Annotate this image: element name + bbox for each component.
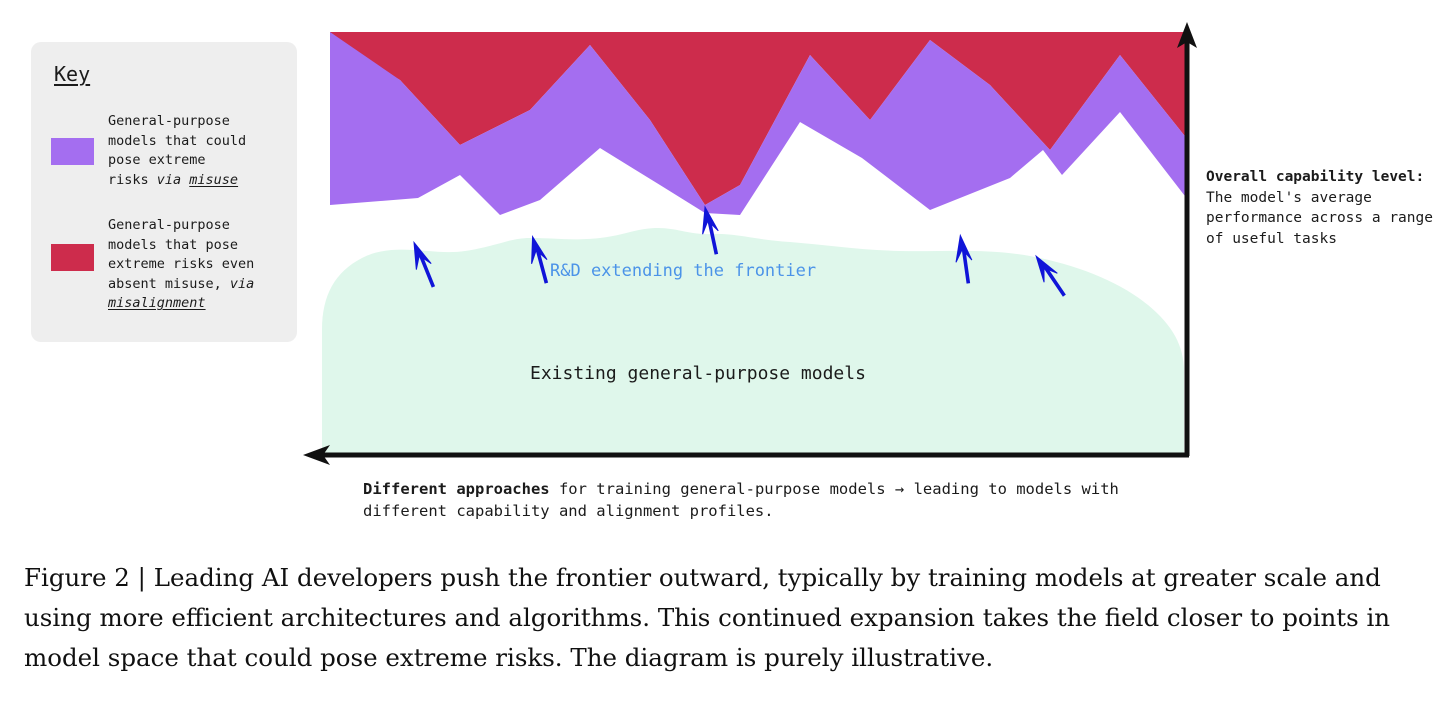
- legend-misalign-line2: models that pose: [108, 237, 238, 253]
- y-axis-annotation: Overall capability level: The model's av…: [1206, 167, 1434, 249]
- legend-label-misuse: General-purposemodels that couldpose ext…: [108, 112, 246, 190]
- legend-item-misalignment: General-purposemodels that poseextreme r…: [51, 216, 283, 314]
- key-title: Key: [54, 62, 283, 86]
- legend-item-misuse: General-purposemodels that couldpose ext…: [51, 112, 283, 190]
- key-legend-panel: Key General-purposemodels that couldpose…: [31, 42, 297, 342]
- x-axis-caption-bold: Different approaches: [363, 480, 550, 498]
- legend-misalign-line3: extreme risks even: [108, 256, 254, 272]
- legend-swatch-red: [51, 244, 94, 271]
- legend-label-misalignment: General-purposemodels that poseextreme r…: [108, 216, 254, 314]
- legend-misalign-via: via: [230, 276, 254, 292]
- legend-misalign-line1: General-purpose: [108, 217, 230, 233]
- legend-misuse-line2: models that could: [108, 133, 246, 149]
- legend-misuse-via: via: [157, 172, 190, 188]
- legend-misalign-term: misalignment: [108, 295, 206, 311]
- legend-misuse-line1: General-purpose: [108, 113, 230, 129]
- y-axis-annotation-title: Overall capability level:: [1206, 169, 1424, 185]
- legend-swatch-purple: [51, 138, 94, 165]
- legend-misuse-term: misuse: [189, 172, 238, 188]
- y-axis-annotation-body: The model's average performance across a…: [1206, 190, 1433, 247]
- x-axis-caption: Different approaches for training genera…: [363, 478, 1193, 522]
- figure-caption: Figure 2 | Leading AI developers push th…: [24, 558, 1416, 678]
- frontier-label: R&D extending the frontier: [550, 261, 816, 281]
- existing-models-label: Existing general-purpose models: [530, 363, 866, 384]
- legend-misuse-line4a: risks: [108, 172, 157, 188]
- figure-diagram: Key General-purposemodels that couldpose…: [0, 0, 1440, 540]
- legend-misalign-line4a: absent misuse,: [108, 276, 230, 292]
- legend-misuse-line3: pose extreme: [108, 152, 206, 168]
